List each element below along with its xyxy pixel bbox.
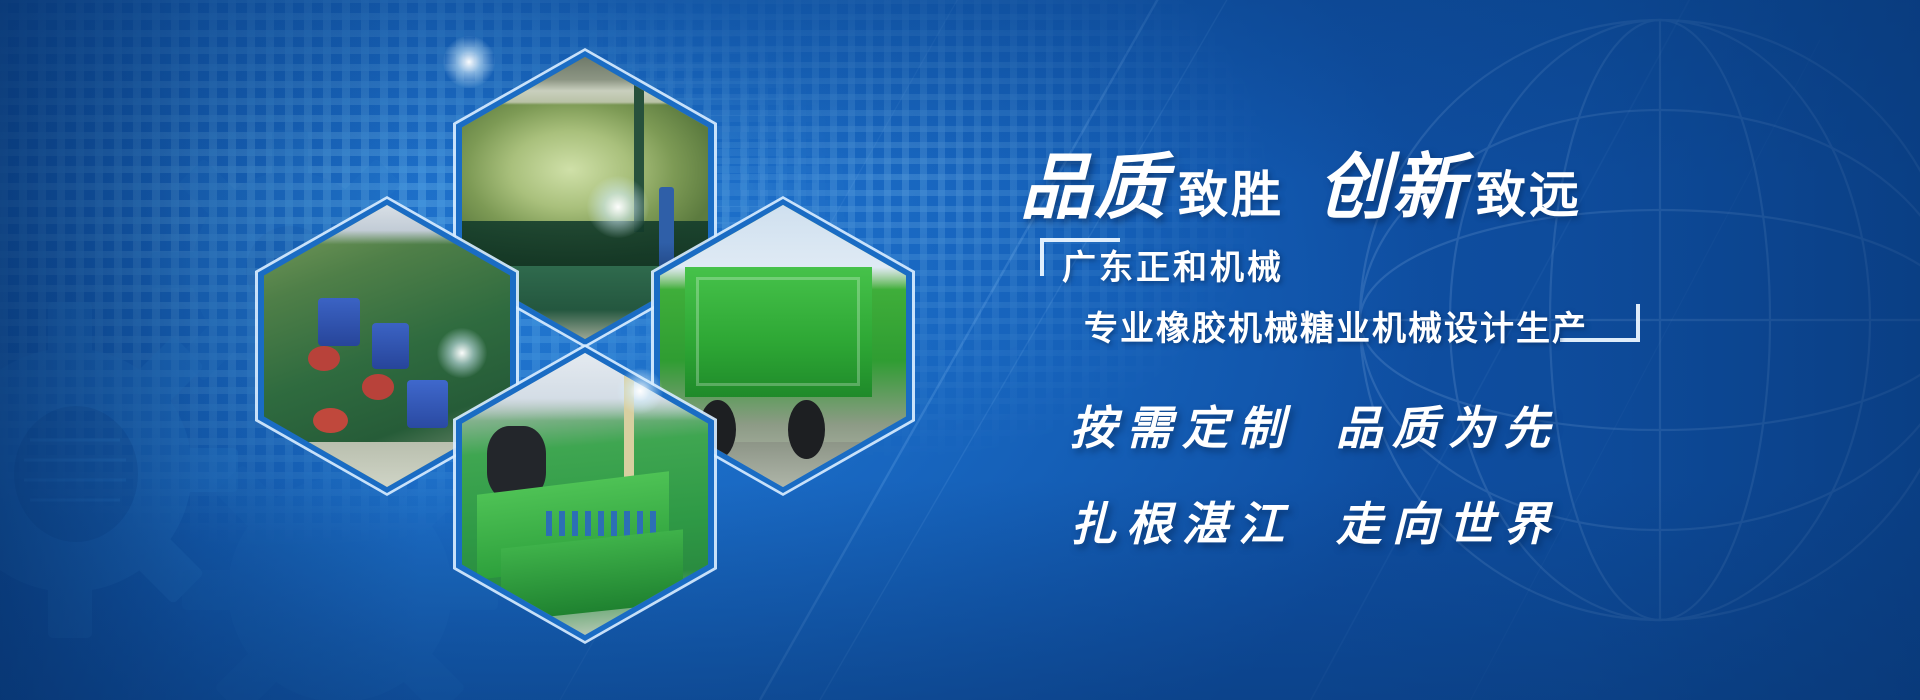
headline-part2-bold: 创新 <box>1318 144 1466 229</box>
slogan-row: 扎根湛江走向世界 <box>1070 488 1560 554</box>
slogan-1-right: 品质为先 <box>1336 401 1560 455</box>
glow-accent <box>437 328 487 378</box>
glow-accent <box>587 176 649 238</box>
company-description: 广东正和机械 专业橡胶机械糖业机械设计生产 <box>1062 240 1588 350</box>
hexagon-photo-gallery <box>215 48 865 548</box>
company-name: 广东正和机械 <box>1062 240 1588 289</box>
headline-part1-light: 致胜 <box>1178 166 1284 224</box>
headline-part1-bold: 品质 <box>1020 144 1168 229</box>
slogan-1-left: 按需定制 <box>1070 401 1294 455</box>
slogan-block: 按需定制品质为先 扎根湛江走向世界 <box>1070 392 1560 554</box>
company-business-scope: 专业橡胶机械糖业机械设计生产 <box>1084 301 1588 350</box>
gallery-hex-conveyor-trough[interactable] <box>453 344 717 644</box>
headline-part2-light: 致远 <box>1476 166 1582 224</box>
slogan-2-left: 扎根湛江 <box>1070 497 1294 551</box>
glow-accent <box>443 36 495 88</box>
slogan-row: 按需定制品质为先 <box>1070 392 1560 458</box>
slogan-2-right: 走向世界 <box>1336 497 1560 551</box>
headline: 品质致胜创新致远 <box>1020 128 1582 233</box>
glow-accent <box>617 368 663 414</box>
promo-banner: 品质致胜创新致远 广东正和机械 专业橡胶机械糖业机械设计生产 按需定制品质为先 … <box>0 0 1920 700</box>
banner-copy: 品质致胜创新致远 广东正和机械 专业橡胶机械糖业机械设计生产 按需定制品质为先 … <box>1020 110 1900 630</box>
